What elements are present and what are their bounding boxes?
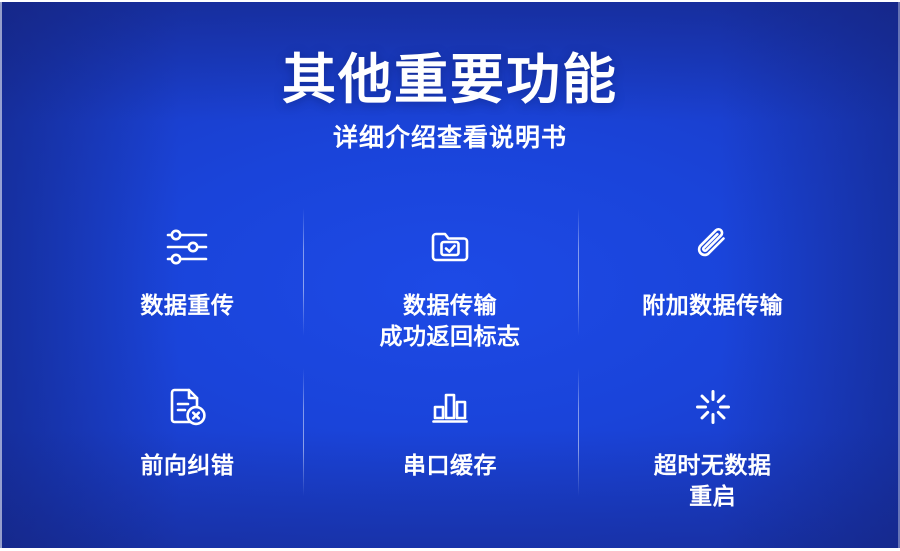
feature-label: 数据重传 (140, 290, 234, 321)
banner-content: 其他重要功能 详细介绍查看说明书 数据重传 (0, 0, 900, 551)
feature-label: 附加数据传输 (642, 290, 783, 321)
feature-banner: 其他重要功能 详细介绍查看说明书 数据重传 (0, 0, 900, 551)
paperclip-icon (685, 222, 741, 272)
feature-item-timeout-restart: 超时无数据 重启 (581, 360, 844, 520)
page-subtitle: 详细介绍查看说明书 (0, 125, 900, 153)
banner-header: 其他重要功能 详细介绍查看说明书 (0, 52, 900, 153)
feature-label: 数据传输 成功返回标志 (379, 290, 520, 351)
feature-item-data-retransmit: 数据重传 (56, 200, 319, 360)
feature-item-transmit-success-flag: 数据传输 成功返回标志 (319, 200, 582, 360)
document-error-icon (159, 382, 215, 432)
sliders-icon (159, 222, 215, 272)
feature-grid: 数据重传 数据传输 成功返回标志 (56, 200, 844, 520)
feature-label: 串口缓存 (403, 450, 497, 481)
feature-label: 前向纠错 (140, 450, 234, 481)
feature-label: 超时无数据 重启 (654, 450, 772, 511)
spinner-icon (685, 382, 741, 432)
feature-item-serial-buffer: 串口缓存 (319, 360, 582, 520)
folder-check-icon (422, 222, 478, 272)
feature-item-forward-error-correction: 前向纠错 (56, 360, 319, 520)
bar-chart-icon (422, 382, 478, 432)
page-title: 其他重要功能 (0, 52, 900, 109)
feature-item-extra-data-transmit: 附加数据传输 (581, 200, 844, 360)
